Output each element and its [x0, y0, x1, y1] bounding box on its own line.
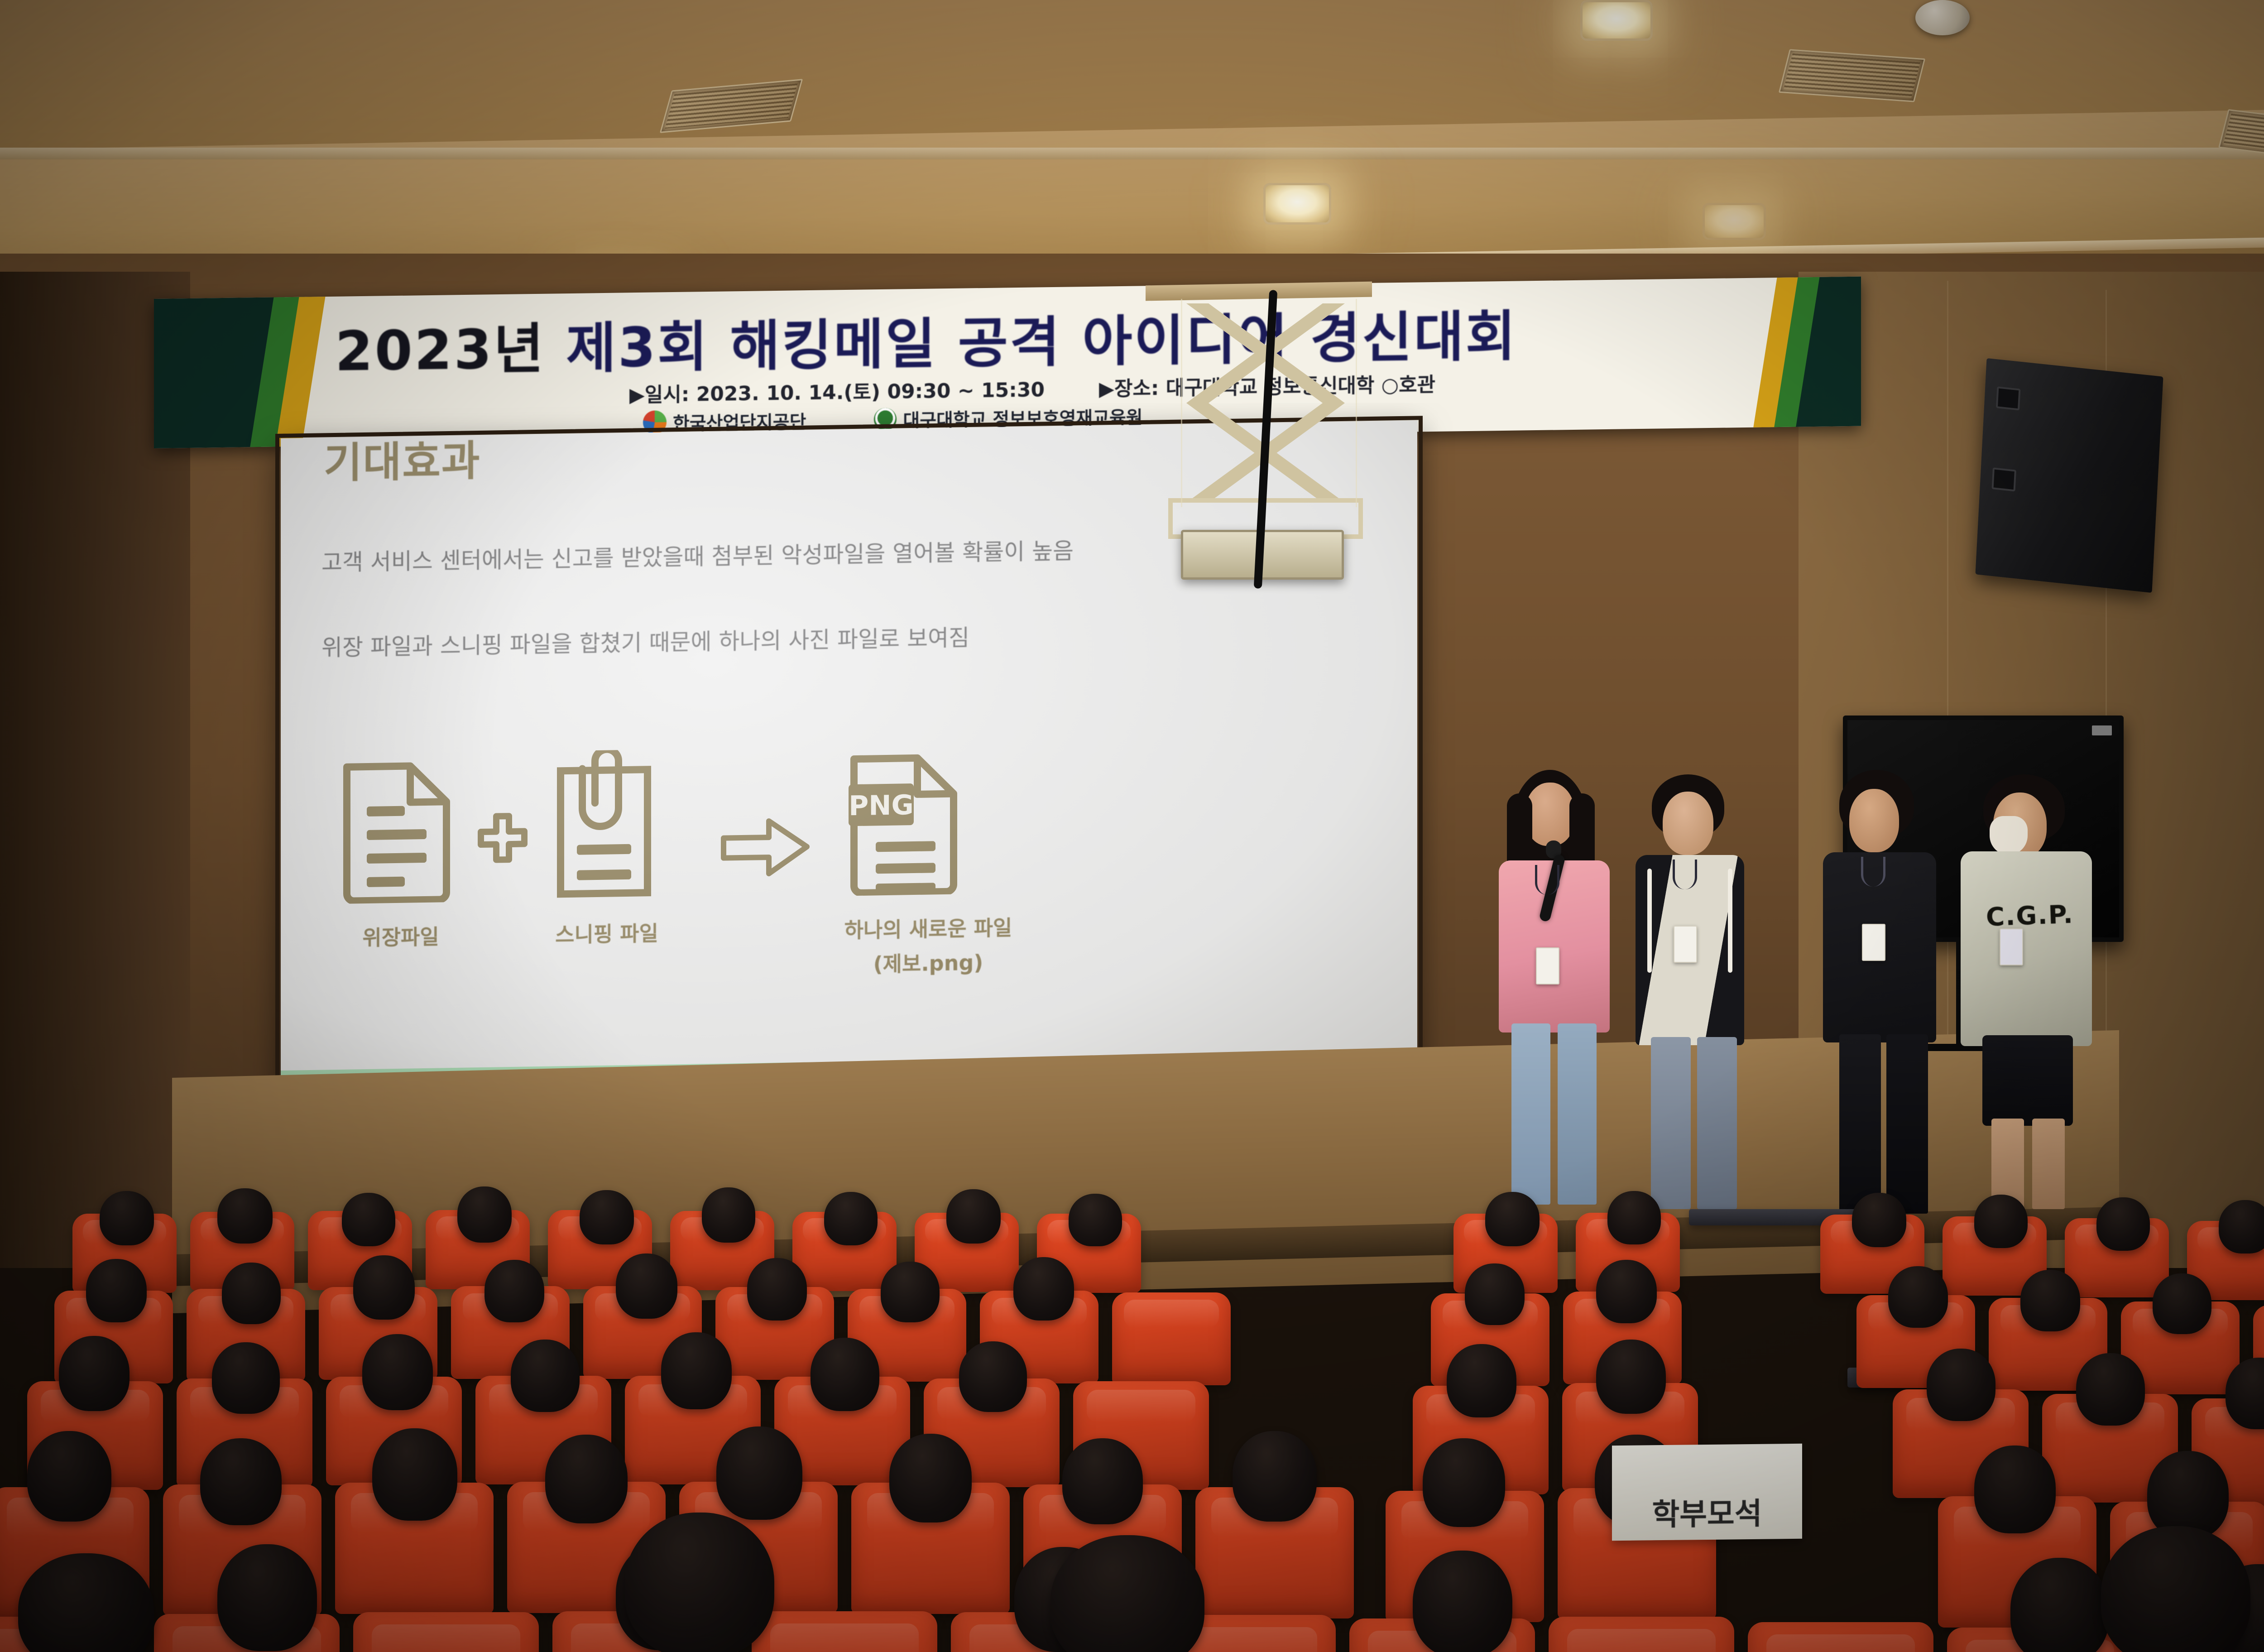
attendee-head	[1888, 1266, 1948, 1328]
banner-title-year: 2023년	[335, 318, 545, 384]
attendee-head	[1927, 1349, 1995, 1421]
attendee-head	[580, 1190, 634, 1244]
attendee-head	[342, 1193, 395, 1246]
seat[interactable]	[752, 1611, 937, 1652]
attendee-head	[616, 1253, 677, 1319]
presenter-3-name-badge	[1862, 924, 1885, 961]
attendee-head	[1596, 1340, 1666, 1414]
monitor-brand-badge	[2092, 725, 2112, 735]
presenter-1-lanyard	[1535, 865, 1559, 895]
parents-seat-label: 학부모석	[1652, 1489, 1762, 1534]
foreground-attendee-head	[625, 1513, 774, 1652]
ceiling-light	[1703, 203, 1766, 240]
attendee-head	[217, 1188, 273, 1244]
attendee-head	[200, 1438, 282, 1525]
attendee-head	[362, 1334, 433, 1410]
attendee-head	[1413, 1551, 1512, 1652]
attendee-head	[59, 1336, 130, 1411]
ceiling-light	[1263, 183, 1331, 225]
attendee-head	[2153, 1273, 2211, 1334]
attendee-head	[212, 1342, 280, 1414]
presenter-1-head	[1525, 783, 1575, 846]
presenter-2-head	[1663, 792, 1713, 855]
presenter-2-name-badge	[1674, 926, 1697, 963]
attendee-head	[1423, 1438, 1505, 1527]
attendee-head	[511, 1340, 580, 1412]
attendee-head	[2219, 1200, 2264, 1253]
attendee-head	[1447, 1344, 1516, 1417]
track-jacket-stripe	[1647, 869, 1652, 973]
seat[interactable]	[1112, 1292, 1231, 1385]
attendee-head	[747, 1258, 807, 1321]
attendee-head	[27, 1431, 111, 1522]
presenter-2-legs	[1697, 1037, 1737, 1209]
attendee-head	[1465, 1263, 1525, 1325]
ceiling-light	[1580, 0, 1653, 41]
attendee-head	[881, 1262, 940, 1322]
attendee-head	[824, 1192, 878, 1245]
attendee-head	[1596, 1260, 1657, 1323]
attendee-head	[1974, 1445, 2056, 1533]
attendee-head	[1013, 1257, 1074, 1321]
attendee-head	[545, 1435, 628, 1523]
hoodie-logo-text: C.G.P.	[1986, 900, 2074, 932]
presenter-2	[1626, 774, 1775, 1209]
attendee-head	[222, 1263, 281, 1324]
attendee-head	[2020, 1270, 2080, 1331]
attendee-head	[2076, 1353, 2145, 1426]
attendee-head	[1062, 1438, 1143, 1524]
presenter-1	[1490, 770, 1639, 1205]
attendee-head	[1233, 1431, 1317, 1522]
attendee-head	[86, 1259, 147, 1322]
attendee-head	[1852, 1193, 1906, 1247]
ceiling-vent	[1779, 49, 1925, 102]
presenter-4-shorts	[1982, 1035, 2073, 1126]
seat[interactable]	[1549, 1617, 1734, 1652]
mount-wire	[1356, 299, 1357, 507]
auditorium-photo-scene: 2023년 제3회 해킹메일 공격 아이디어 경신대회 ▶일시: 2023. 1…	[0, 0, 2264, 1652]
ceiling-beam	[0, 148, 2264, 159]
presenter-1-legs	[1511, 1023, 1550, 1205]
attendee-head	[716, 1426, 802, 1520]
attendee-head	[702, 1187, 755, 1243]
presenter-4: C.G.P.	[1956, 774, 2115, 1209]
banner-date: ▶일시: 2023. 10. 14.(토) 09:30 ~ 15:30	[629, 378, 1045, 407]
attendee-head	[217, 1544, 317, 1651]
mount-wire	[1181, 299, 1182, 507]
attendee-head	[1485, 1192, 1540, 1246]
attendee-head	[457, 1186, 512, 1243]
face-mask-icon	[1990, 816, 2028, 855]
projector-mount	[1127, 272, 1408, 634]
presenter-4-name-badge	[2000, 928, 2023, 965]
presenter-3-lanyard	[1861, 857, 1885, 887]
track-jacket-stripe	[1728, 869, 1732, 973]
presenter-1-name-badge	[1536, 947, 1559, 984]
attendee-head	[1607, 1191, 1661, 1244]
attendee-head	[2010, 1558, 2109, 1652]
attendee-head	[1974, 1195, 2028, 1248]
attendee-head	[661, 1332, 732, 1409]
presenter-2-lanyard	[1673, 860, 1697, 889]
ceiling-speaker	[1975, 358, 2163, 593]
presenter-2-legs	[1651, 1037, 1691, 1209]
attendee-head	[372, 1428, 457, 1521]
attendee-head	[946, 1189, 1001, 1244]
smoke-detector-icon	[1915, 0, 1970, 35]
attendee-head	[959, 1341, 1027, 1412]
presenter-4-torso	[1961, 851, 2092, 1046]
seat[interactable]	[1748, 1622, 1933, 1652]
parents-seat-sign: 학부모석	[1612, 1444, 1802, 1541]
projector-ceiling-plate	[1146, 282, 1372, 301]
foreground-attendee-head	[1050, 1535, 1204, 1652]
attendee-head	[2096, 1197, 2150, 1251]
attendee-head	[811, 1338, 879, 1411]
attendee-head	[1069, 1194, 1122, 1246]
presenter-3-head	[1849, 789, 1899, 852]
attendee-head	[100, 1191, 154, 1245]
presenter-3	[1816, 770, 1961, 1214]
attendee-head	[484, 1260, 544, 1322]
attendee-head	[2147, 1451, 2229, 1539]
attendee-head	[353, 1255, 415, 1320]
seat[interactable]	[353, 1612, 539, 1652]
attendee-head	[889, 1434, 972, 1522]
foreground-attendee-head	[2101, 1526, 2250, 1652]
presenter-1-legs	[1558, 1023, 1597, 1205]
